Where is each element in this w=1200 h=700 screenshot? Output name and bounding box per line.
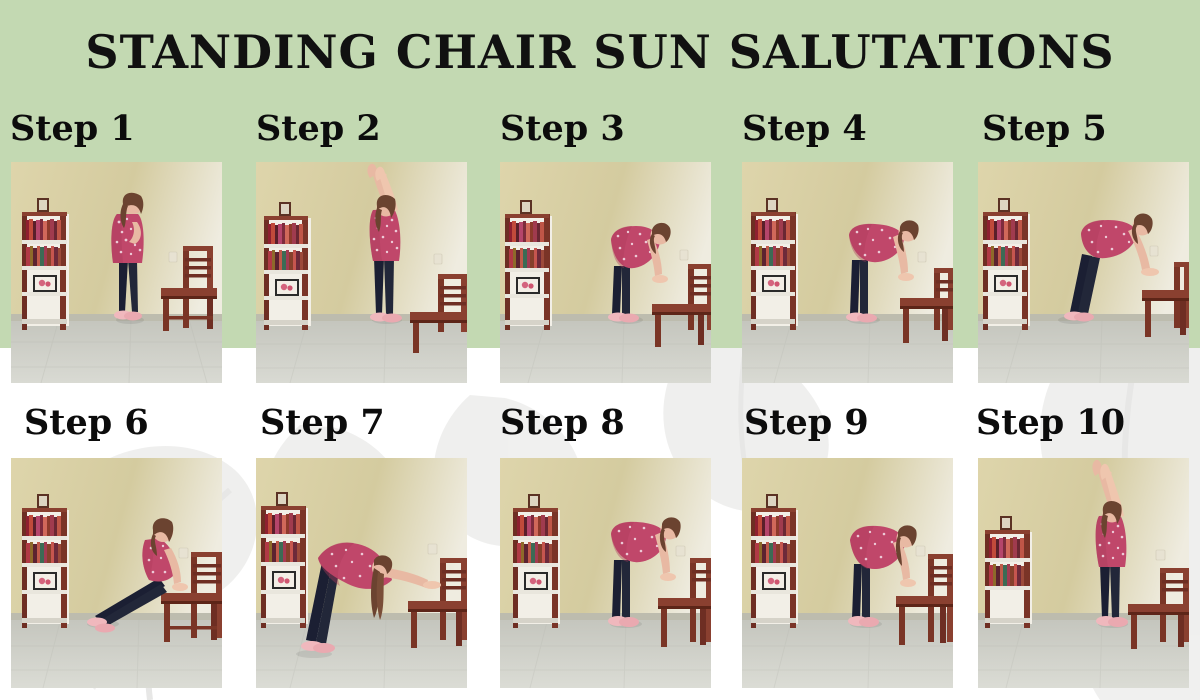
step-photo-2[interactable] — [256, 162, 467, 383]
step-label-8: Step 8 — [500, 404, 625, 442]
step-label-10: Step 10 — [976, 404, 1125, 442]
step-label-5: Step 5 — [982, 110, 1107, 148]
step-photo-8[interactable] — [500, 458, 711, 688]
poster-root: STANDING CHAIR SUN SALUTATIONS Step 1 — [0, 0, 1200, 700]
step-photo-3[interactable] — [500, 162, 711, 383]
steps-grid: Step 1 — [0, 0, 1200, 700]
step-label-9: Step 9 — [744, 404, 869, 442]
step-photo-9[interactable] — [742, 458, 953, 688]
step-photo-4[interactable] — [742, 162, 953, 383]
step-photo-5[interactable] — [978, 162, 1189, 383]
step-photo-10[interactable] — [978, 458, 1189, 688]
step-label-6: Step 6 — [24, 404, 149, 442]
step-label-1: Step 1 — [10, 110, 135, 148]
step-label-2: Step 2 — [256, 110, 381, 148]
step-photo-1[interactable] — [11, 162, 222, 383]
step-photo-6[interactable] — [11, 458, 222, 688]
step-label-7: Step 7 — [260, 404, 385, 442]
step-label-3: Step 3 — [500, 110, 625, 148]
step-label-4: Step 4 — [742, 110, 867, 148]
step-photo-7[interactable] — [256, 458, 467, 688]
